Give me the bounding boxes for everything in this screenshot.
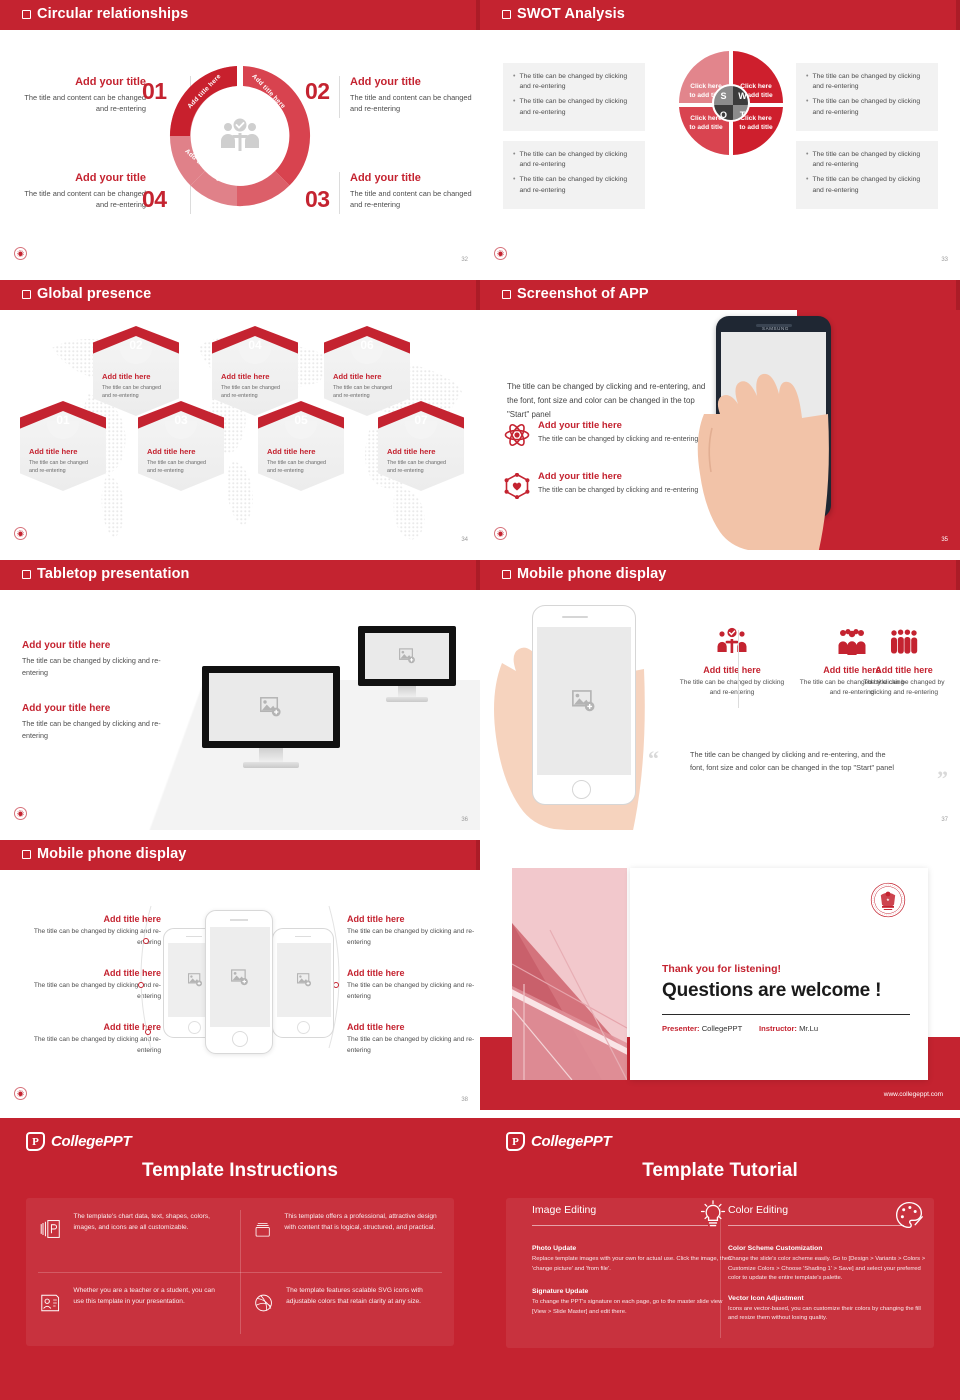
- red-canvas: P CollegePPT Template Tutorial Image Edi…: [480, 1118, 960, 1400]
- phone-speaker: [562, 616, 588, 618]
- id-card-icon: [40, 1286, 60, 1320]
- slide-header-bar: Screenshot of APP: [480, 280, 960, 310]
- slide-global-presence[interactable]: Global presence: [0, 280, 480, 550]
- divider: [662, 1014, 910, 1015]
- item-title: Add your title: [16, 172, 146, 184]
- column-header: Color Editing: [728, 1204, 928, 1236]
- university-seal-icon: [14, 247, 27, 260]
- divider: [738, 630, 739, 708]
- four-people-icon: [852, 625, 956, 659]
- slide-header-bar: Mobile phone display: [0, 840, 480, 870]
- phone-home-button[interactable]: [297, 1021, 310, 1034]
- square-bullet-icon: [22, 10, 31, 19]
- mb-right-item-3[interactable]: Add title here The title can be changed …: [347, 1022, 480, 1056]
- circular-item-02[interactable]: Add your title The title and content can…: [350, 76, 480, 115]
- team-check-icon: [678, 625, 786, 659]
- decorative-photo: [512, 868, 627, 1080]
- phone-home-button[interactable]: [572, 780, 591, 799]
- square-bullet-icon: [502, 10, 511, 19]
- university-seal-icon: [494, 527, 507, 540]
- thank-you-card: ★ Thank you for listening! Questions are…: [630, 868, 928, 1080]
- slide-header-bar: Global presence: [0, 280, 480, 310]
- hex-item-07[interactable]: Add title here The title can be changed …: [378, 411, 464, 491]
- headline: Questions are welcome !: [662, 980, 881, 1002]
- slide-header-bar: Circular relationships: [0, 0, 480, 30]
- image-placeholder-icon: [231, 969, 249, 986]
- hex-desc: The title can be changed and re-entering: [387, 459, 455, 475]
- bullet: •The title can be changed by clicking an…: [806, 175, 928, 195]
- instruction-cell-2[interactable]: This template offers a professional, att…: [240, 1198, 454, 1272]
- brand-wordmark: CollegePPT: [51, 1133, 131, 1150]
- swot-letter-w: W: [733, 86, 750, 105]
- monitor-screen[interactable]: [365, 633, 449, 679]
- ppt-slides-icon: [40, 1212, 60, 1246]
- image-placeholder-icon: [572, 690, 596, 712]
- phone-mockup[interactable]: SAMSUNG: [716, 316, 834, 550]
- bullet: •The title can be changed by clicking an…: [513, 150, 635, 170]
- university-seal-icon: [14, 807, 27, 820]
- image-placeholder-icon: [260, 697, 282, 717]
- connector-dot: [138, 982, 144, 988]
- hex-desc: The title can be changed and re-entering: [267, 459, 335, 475]
- tabletop-item-1[interactable]: Add your title here The title can be cha…: [22, 640, 182, 678]
- collegeppt-mark-icon: P: [26, 1132, 45, 1151]
- presenter-label: Presenter:: [662, 1024, 700, 1033]
- swot-wheel[interactable]: Click here to add title Click here to ad…: [679, 51, 783, 155]
- circular-ring-diagram[interactable]: Add title here Add title here Add title …: [166, 62, 314, 210]
- item-title: Add your title here: [22, 703, 182, 714]
- hex-desc: The title can be changed and re-entering: [147, 459, 215, 475]
- hex-item-05[interactable]: Add title here The title can be changed …: [258, 411, 344, 491]
- square-bullet-icon: [502, 290, 511, 299]
- slide-header-bar: SWOT Analysis: [480, 0, 960, 30]
- divider: [339, 76, 340, 118]
- swot-panel-bottom-right[interactable]: •The title can be changed by clicking an…: [796, 141, 938, 209]
- phone-speaker: [186, 936, 202, 937]
- connector-dot: [143, 938, 149, 944]
- swot-letter-s: S: [714, 86, 733, 105]
- page-title: Mobile phone display: [37, 846, 186, 862]
- connector-dot: [145, 1029, 151, 1035]
- hex-item-03[interactable]: Add title here The title can be changed …: [138, 411, 224, 491]
- phone-speaker: [230, 919, 248, 921]
- monitor-screen[interactable]: [209, 673, 333, 741]
- brand-logo[interactable]: P CollegePPT: [506, 1132, 611, 1151]
- item-title: Add your title here: [22, 640, 182, 651]
- item-desc: The title and content can be changed and…: [350, 188, 480, 211]
- quote-text: The title can be changed by clicking and…: [690, 748, 900, 775]
- dribbble-ball-icon: [254, 1286, 273, 1320]
- block-subtitle: Color Scheme Customization: [728, 1245, 928, 1252]
- block-subtitle: Vector Icon Adjustment: [728, 1295, 928, 1302]
- page-title: Tabletop presentation: [37, 566, 189, 582]
- presenter-value: CollegePPT: [702, 1024, 742, 1033]
- monitor-neck: [259, 748, 283, 762]
- hand-illustration: [682, 354, 842, 550]
- circular-item-04[interactable]: Add your title The title and content can…: [16, 172, 146, 211]
- item-title: Add title here: [347, 914, 480, 924]
- instruction-cell-4[interactable]: The template features scalable SVG icons…: [240, 1272, 454, 1346]
- block-text: Change the slide's color scheme easily. …: [728, 1255, 928, 1284]
- hex-number: 07: [378, 413, 464, 427]
- page-number: 33: [941, 257, 948, 263]
- cell-text: The template's chart data, text, shapes,…: [73, 1212, 226, 1272]
- image-placeholder-icon: [399, 648, 416, 664]
- slide-mobile-phone-display-a[interactable]: Mobile phone display: [480, 560, 960, 830]
- item-number-04: 04: [142, 186, 167, 213]
- hex-title: Add title here: [221, 372, 289, 381]
- page-number: 34: [461, 537, 468, 543]
- hex-desc: The title can be changed and re-entering: [333, 384, 401, 400]
- palette-icon: [894, 1200, 924, 1230]
- phone-screen[interactable]: [210, 927, 270, 1027]
- item-title: Add your title: [350, 172, 480, 184]
- brand-wordmark: CollegePPT: [531, 1133, 611, 1150]
- monitor-bezel: [202, 666, 340, 748]
- monitor-base: [243, 762, 299, 768]
- monitor-front[interactable]: [202, 666, 340, 768]
- bullet: •The title can be changed by clicking an…: [806, 150, 928, 170]
- page-title: Screenshot of APP: [517, 286, 649, 302]
- hex-number: 04: [212, 338, 298, 352]
- phone-home-button[interactable]: [232, 1031, 248, 1047]
- university-seal-icon: [14, 1087, 27, 1100]
- column-title: Add title here: [852, 665, 956, 675]
- item-title: Add title here: [347, 1022, 480, 1032]
- presenter-meta: Presenter: CollegePPT Instructor: Mr.Lu: [662, 1024, 818, 1033]
- swot-hub: S W O T: [712, 84, 750, 122]
- slide-template-instructions[interactable]: P CollegePPT Template Instructions The t…: [0, 1118, 480, 1400]
- tabletop-item-2[interactable]: Add your title here The title can be cha…: [22, 703, 182, 741]
- hex-title: Add title here: [333, 372, 401, 381]
- hex-item-02[interactable]: Add title here The title can be changed …: [93, 336, 179, 416]
- tutorial-column-color-editing[interactable]: Color Editing Color Scheme Customization…: [728, 1204, 928, 1324]
- mobile-column-1[interactable]: Add title here The title can be changed …: [678, 625, 786, 698]
- page-title: Mobile phone display: [517, 566, 666, 582]
- hex-title: Add title here: [387, 447, 455, 456]
- block-text: Icons are vector-based, you can customiz…: [728, 1305, 928, 1324]
- slide-template-tutorial[interactable]: P CollegePPT Template Tutorial Image Edi…: [480, 1118, 960, 1400]
- hex-number: 02: [93, 338, 179, 352]
- university-seal-icon: [494, 247, 507, 260]
- bullet: •The title can be changed by clicking an…: [513, 97, 635, 117]
- swot-panel-top-right[interactable]: •The title can be changed by clicking an…: [796, 63, 938, 131]
- phone-speaker: [295, 936, 311, 937]
- page-number: 37: [941, 817, 948, 823]
- item-desc: The title and content can be changed and…: [16, 92, 146, 115]
- item-desc: The title can be changed by clicking and…: [22, 718, 182, 741]
- hex-desc: The title can be changed and re-entering: [102, 384, 170, 400]
- hex-title: Add title here: [267, 447, 335, 456]
- slide-screenshot-of-app[interactable]: Screenshot of APP The title can be chang…: [480, 280, 960, 550]
- swot-letter-t: T: [733, 105, 750, 122]
- slide-thank-you[interactable]: ★ Thank you for listening! Questions are…: [480, 840, 960, 1110]
- mb-right-item-2[interactable]: Add title here The title can be changed …: [347, 968, 480, 1002]
- website-url[interactable]: www.collegeppt.com: [884, 1091, 943, 1098]
- monitor-base: [386, 697, 428, 702]
- block-text: Replace template images with your own fo…: [532, 1255, 732, 1274]
- phone-center-front[interactable]: [205, 910, 273, 1054]
- bullet: •The title can be changed by clicking an…: [513, 175, 635, 195]
- device-brand: SAMSUNG: [762, 326, 786, 331]
- phone-screen[interactable]: [537, 627, 631, 775]
- hex-item-01[interactable]: Add title here The title can be changed …: [20, 411, 106, 491]
- hex-desc: The title can be changed and re-entering: [221, 384, 289, 400]
- circular-item-03[interactable]: Add your title The title and content can…: [350, 172, 480, 211]
- item-desc: The title and content can be changed and…: [350, 92, 480, 115]
- instruction-cell-3[interactable]: Whether you are a teacher or a student, …: [26, 1272, 240, 1346]
- item-title: Add title here: [347, 968, 480, 978]
- header-rule: [532, 1225, 708, 1226]
- hex-number: 06: [324, 338, 410, 352]
- red-canvas: P CollegePPT Template Instructions The t…: [0, 1118, 480, 1400]
- university-seal-icon: [14, 527, 27, 540]
- thank-you-canvas: ★ Thank you for listening! Questions are…: [480, 840, 960, 1110]
- column-title: Add title here: [678, 665, 786, 675]
- bullet: •The title can be changed by clicking an…: [806, 72, 928, 92]
- phone-screen[interactable]: [277, 943, 331, 1017]
- hex-title: Add title here: [147, 447, 215, 456]
- slide-deck-contact-sheet: Circular relationships Add your title Th…: [0, 0, 960, 1400]
- swot-panel-top-left[interactable]: •The title can be changed by clicking an…: [503, 63, 645, 131]
- image-placeholder-icon: [188, 973, 203, 987]
- phone-mockup[interactable]: [500, 605, 670, 830]
- mb-right-item-1[interactable]: Add title here The title can be changed …: [347, 914, 480, 948]
- item-desc: The title can be changed by clicking and…: [347, 981, 480, 1002]
- page-title: Circular relationships: [37, 6, 188, 22]
- hex-item-04[interactable]: Add title here The title can be changed …: [212, 336, 298, 416]
- monitor-back[interactable]: [358, 626, 456, 702]
- square-bullet-icon: [22, 290, 31, 299]
- hex-number: 05: [258, 413, 344, 427]
- bullet: •The title can be changed by clicking an…: [513, 72, 635, 92]
- atom-icon: [504, 422, 530, 448]
- cell-text: This template offers a professional, att…: [284, 1212, 440, 1272]
- column-header: Image Editing: [532, 1204, 732, 1236]
- item-desc: The title can be changed by clicking and…: [347, 927, 480, 948]
- thanks-line: Thank you for listening!: [662, 963, 781, 975]
- item-desc: The title can be changed by clicking and…: [347, 1035, 480, 1056]
- divider: [339, 172, 340, 214]
- header-rule: [728, 1225, 904, 1226]
- slide-header-bar: Tabletop presentation: [0, 560, 480, 590]
- slide-tabletop-presentation[interactable]: Tabletop presentation Add your title her…: [0, 560, 480, 830]
- slide-swot-analysis[interactable]: SWOT Analysis •The title can be changed …: [480, 0, 960, 270]
- hex-title: Add title here: [102, 372, 170, 381]
- square-bullet-icon: [22, 850, 31, 859]
- phone-right-back[interactable]: [272, 928, 334, 1038]
- item-title: Add your title: [16, 76, 146, 88]
- mobile-column-3[interactable]: Add title here The title can be changed …: [852, 625, 956, 698]
- monitor-neck: [398, 686, 416, 697]
- item-desc: The title and content can be changed and…: [16, 188, 146, 211]
- hex-desc: The title can be changed and re-entering: [29, 459, 97, 475]
- team-people-icon: [220, 118, 260, 154]
- page-number: 32: [461, 257, 468, 263]
- brand-logo[interactable]: P CollegePPT: [26, 1132, 131, 1151]
- cell-text: Whether you are a teacher or a student, …: [73, 1286, 226, 1346]
- university-seal-icon: ★: [870, 882, 906, 918]
- page-number: 38: [461, 1097, 468, 1103]
- instruction-cell-1[interactable]: The template's chart data, text, shapes,…: [26, 1198, 240, 1272]
- layers-box-icon: [254, 1212, 271, 1246]
- cell-text: The template features scalable SVG icons…: [286, 1286, 440, 1346]
- page-number: 36: [461, 817, 468, 823]
- circular-item-01[interactable]: Add your title The title and content can…: [16, 76, 146, 115]
- block-text: To change the PPT's signature on each pa…: [532, 1298, 732, 1317]
- page-title: Global presence: [37, 286, 151, 302]
- page-number: 35: [941, 537, 948, 543]
- instructor-value: Mr.Lu: [799, 1024, 818, 1033]
- tutorial-column-image-editing[interactable]: Image Editing Photo Update Replace templ…: [532, 1204, 732, 1317]
- image-placeholder-icon: [297, 973, 312, 987]
- network-heart-icon: [504, 473, 530, 499]
- slide-header-bar: Mobile phone display: [480, 560, 960, 590]
- instructor-label: Instructor:: [759, 1024, 797, 1033]
- quote-open-icon: “: [648, 746, 659, 772]
- slide-mobile-phone-display-b[interactable]: Mobile phone display Add title here The …: [0, 840, 480, 1110]
- lightbulb-icon: [698, 1200, 728, 1230]
- swot-panel-bottom-left[interactable]: •The title can be changed by clicking an…: [503, 141, 645, 209]
- column-desc: The title can be changed by clicking and…: [852, 678, 956, 698]
- hex-number: 01: [20, 413, 106, 427]
- hex-title: Add title here: [29, 447, 97, 456]
- block-subtitle: Photo Update: [532, 1245, 732, 1252]
- page-title: Template Instructions: [0, 1160, 480, 1182]
- slide-circular-relationships[interactable]: Circular relationships Add your title Th…: [0, 0, 480, 270]
- collegeppt-mark-icon: P: [506, 1132, 525, 1151]
- quote-close-icon: ”: [937, 766, 948, 792]
- instruction-panel: The template's chart data, text, shapes,…: [26, 1198, 454, 1346]
- square-bullet-icon: [22, 570, 31, 579]
- page-title: SWOT Analysis: [517, 6, 625, 22]
- column-desc: The title can be changed by clicking and…: [678, 678, 786, 698]
- hex-number: 03: [138, 413, 224, 427]
- hex-item-06[interactable]: Add title here The title can be changed …: [324, 336, 410, 416]
- phone-home-button[interactable]: [188, 1021, 201, 1034]
- svg-text:★: ★: [886, 897, 890, 902]
- item-title: Add your title: [350, 76, 480, 88]
- monitor-bezel: [358, 626, 456, 686]
- item-number-01: 01: [142, 78, 167, 105]
- swot-letter-o: O: [714, 105, 733, 122]
- bullet: •The title can be changed by clicking an…: [806, 97, 928, 117]
- square-bullet-icon: [502, 570, 511, 579]
- page-title: Template Tutorial: [480, 1160, 960, 1182]
- block-subtitle: Signature Update: [532, 1288, 732, 1295]
- item-desc: The title can be changed by clicking and…: [22, 655, 182, 678]
